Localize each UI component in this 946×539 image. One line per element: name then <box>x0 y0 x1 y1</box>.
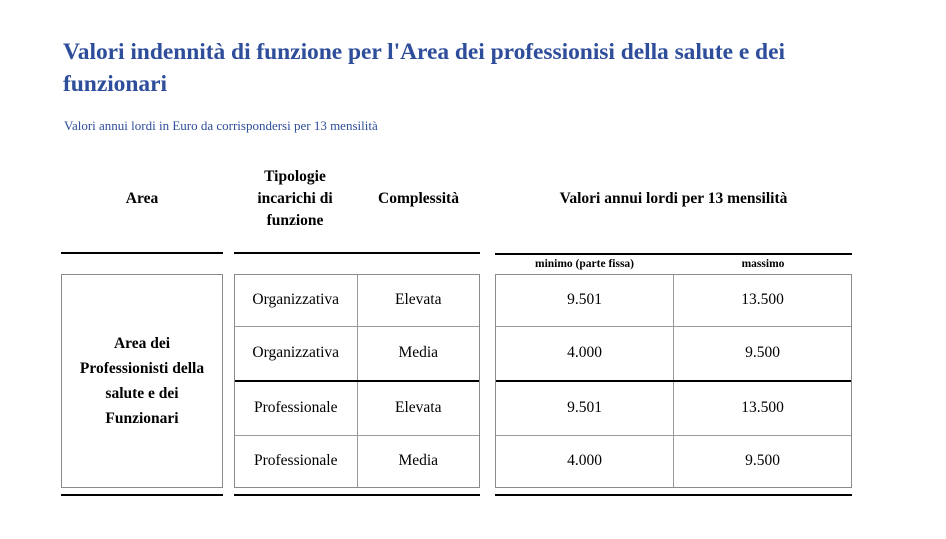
column-header-tipologie-incarichi: Tipologie incarichi di funzione <box>234 166 356 232</box>
cell-tipologia: Organizzativa <box>235 327 357 381</box>
header-rule-valori <box>495 253 852 255</box>
cell-massimo: 13.500 <box>674 381 852 435</box>
cell-complessita: Media <box>357 435 479 487</box>
valori-table: 9.501 13.500 4.000 9.500 9.501 13.500 4.… <box>496 275 851 487</box>
tipologie-table: Organizzativa Elevata Organizzativa Medi… <box>235 275 479 487</box>
area-table: Area dei Professionisti della salute e d… <box>62 275 222 487</box>
table-row: 9.501 13.500 <box>496 275 851 327</box>
indennita-table: Area Tipologie incarichi di funzione Com… <box>0 0 946 539</box>
cell-complessita: Elevata <box>357 275 479 327</box>
subheader-minimo: minimo (parte fissa) <box>495 258 674 272</box>
area-cell: Area dei Professionisti della salute e d… <box>62 275 222 487</box>
footer-rule-tipologie <box>234 494 480 496</box>
column-header-valori-annui: Valori annui lordi per 13 mensilità <box>495 188 852 210</box>
cell-massimo: 9.500 <box>674 327 852 381</box>
cell-massimo: 9.500 <box>674 435 852 487</box>
footer-rule-valori <box>495 494 852 496</box>
cell-minimo: 9.501 <box>496 381 674 435</box>
table-row: Area dei Professionisti della salute e d… <box>62 275 222 487</box>
cell-tipologia: Professionale <box>235 381 357 435</box>
table-row: 4.000 9.500 <box>496 327 851 381</box>
table-row: Organizzativa Media <box>235 327 479 381</box>
table-row: Professionale Elevata <box>235 381 479 435</box>
cell-complessita: Media <box>357 327 479 381</box>
cell-complessita: Elevata <box>357 381 479 435</box>
cell-minimo: 4.000 <box>496 327 674 381</box>
cell-tipologia: Professionale <box>235 435 357 487</box>
footer-rule-area <box>61 494 223 496</box>
table-row: Professionale Media <box>235 435 479 487</box>
subheader-massimo: massimo <box>674 258 852 272</box>
column-header-complessita: Complessità <box>358 188 479 210</box>
column-header-area: Area <box>61 188 223 210</box>
valori-block: 9.501 13.500 4.000 9.500 9.501 13.500 4.… <box>495 274 852 488</box>
cell-massimo: 13.500 <box>674 275 852 327</box>
cell-minimo: 4.000 <box>496 435 674 487</box>
cell-tipologia: Organizzativa <box>235 275 357 327</box>
table-row: 9.501 13.500 <box>496 381 851 435</box>
area-block: Area dei Professionisti della salute e d… <box>61 274 223 488</box>
header-rule-area <box>61 252 223 254</box>
table-row: 4.000 9.500 <box>496 435 851 487</box>
table-row: Organizzativa Elevata <box>235 275 479 327</box>
header-rule-tipologie <box>234 252 480 254</box>
cell-minimo: 9.501 <box>496 275 674 327</box>
tipologie-complessita-block: Organizzativa Elevata Organizzativa Medi… <box>234 274 480 488</box>
